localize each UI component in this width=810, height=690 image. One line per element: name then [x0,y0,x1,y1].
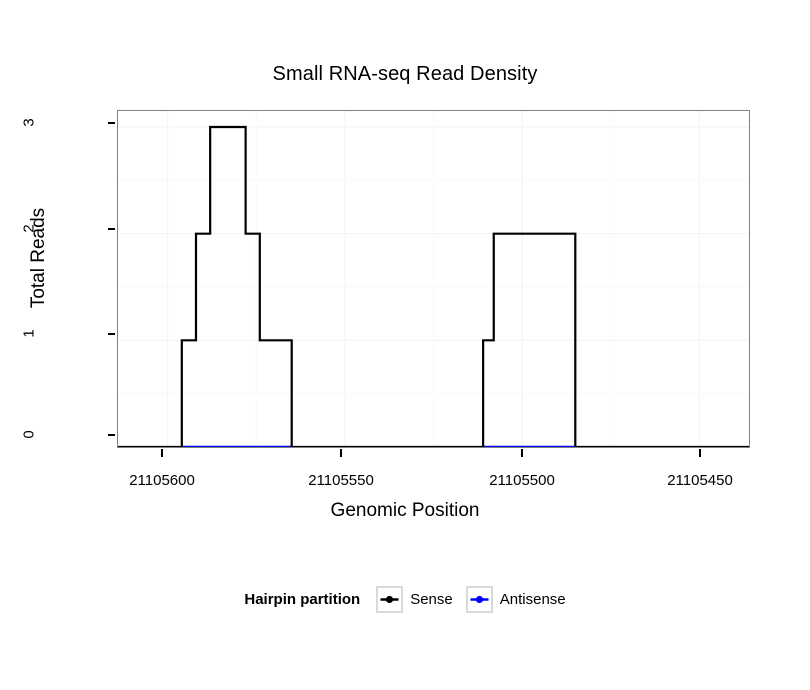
x-tick-label-21105550: 21105550 [271,472,411,489]
legend-label-antisense: Antisense [500,591,566,608]
x-tick-label-21105450: 21105450 [630,472,770,489]
chart-title: Small RNA-seq Read Density [0,63,810,86]
legend: Hairpin partition Sense Antisense [0,586,810,613]
legend-title: Hairpin partition [244,591,360,608]
x-tick-mark-21105500 [521,449,523,457]
legend-key-antisense [466,586,493,613]
line-point-icon [379,589,400,610]
y-tick-label-2: 2 [21,199,38,259]
legend-key-sense [376,586,403,613]
x-tick-label-21105500: 21105500 [452,472,592,489]
plot-area [118,111,749,447]
legend-entry-antisense[interactable]: Antisense [466,586,566,613]
y-tick-label-3: 3 [21,93,38,153]
x-tick-mark-21105600 [161,449,163,457]
plot-panel [117,110,750,448]
line-point-icon [469,589,490,610]
chart-figure: Small RNA-seq Read Density Total Reads 3… [0,0,810,690]
legend-entry-sense[interactable]: Sense [376,586,453,613]
x-tick-mark-21105450 [699,449,701,457]
y-tick-mark-2 [108,228,115,230]
legend-label-sense: Sense [410,591,453,608]
y-tick-label-1: 1 [21,304,38,364]
y-tick-mark-0 [108,434,115,436]
y-tick-label-0: 0 [21,405,38,465]
y-tick-mark-1 [108,333,115,335]
gridlines-minor [118,111,749,447]
x-tick-label-21105600: 21105600 [92,472,232,489]
y-tick-mark-3 [108,122,115,124]
x-tick-mark-21105550 [340,449,342,457]
x-axis-title: Genomic Position [0,500,810,522]
